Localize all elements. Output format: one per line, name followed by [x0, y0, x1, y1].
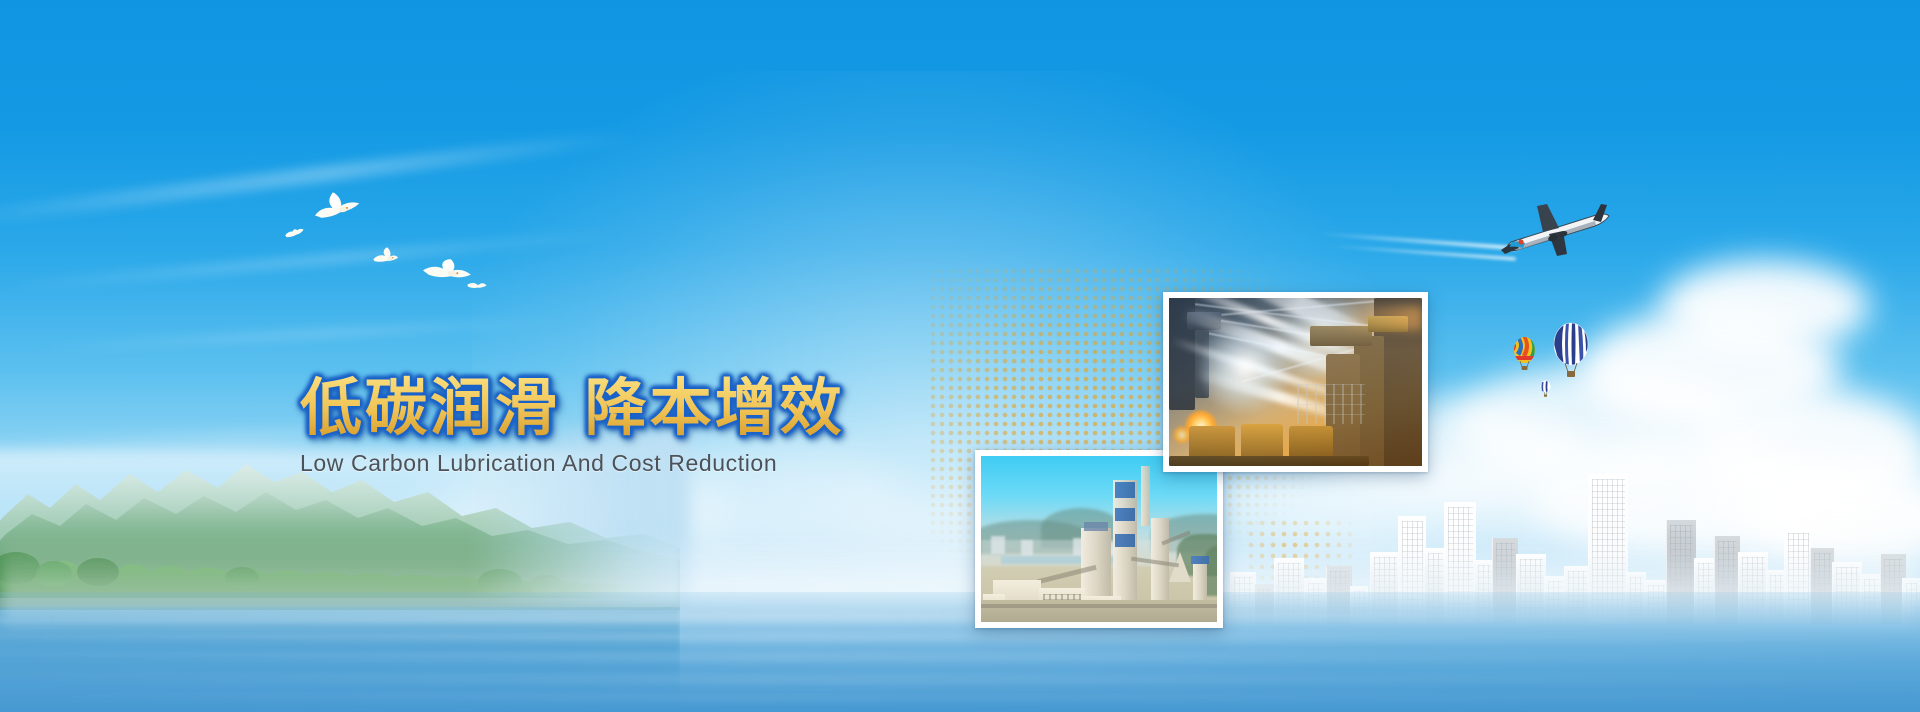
photo-cement-plant-image — [981, 456, 1217, 622]
dove-large — [307, 182, 366, 228]
balloon-colorful — [1513, 336, 1536, 373]
airplane-icon — [1497, 198, 1617, 264]
dove-small — [282, 225, 306, 242]
photo-steel-mill[interactable] — [1163, 292, 1428, 472]
photo-steel-mill-image — [1169, 298, 1422, 466]
page-subtitle: Low Carbon Lubrication And Cost Reductio… — [300, 450, 777, 477]
dove-mid — [370, 245, 400, 267]
balloon-distant-small — [1540, 380, 1551, 398]
hero-banner: 低碳润滑 降本增效 Low Carbon Lubrication And Cos… — [0, 0, 1920, 712]
balloon-striped-blue — [1553, 322, 1589, 380]
water-surface — [0, 592, 1920, 712]
page-title: 低碳润滑 降本增效 — [300, 357, 845, 447]
photo-cement-plant[interactable] — [975, 450, 1223, 628]
